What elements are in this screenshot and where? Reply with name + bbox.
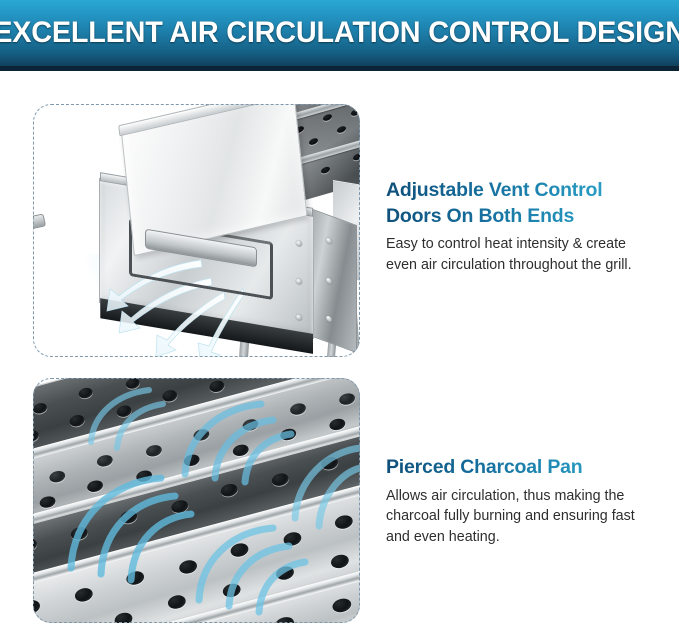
header-banner: EXCELLENT AIR CIRCULATION CONTROL DESIGN <box>0 0 679 71</box>
vent-door-hinge <box>33 213 46 231</box>
firebox-side-panel <box>307 207 357 353</box>
charcoal-pan-illustration <box>33 378 360 623</box>
rivet <box>326 315 332 323</box>
feature-title: Adjustable Vent Control Doors On Both En… <box>386 178 658 229</box>
feature-description: Allows air circulation, thus making the … <box>386 486 658 547</box>
rivet <box>296 240 302 247</box>
rivet <box>326 237 332 245</box>
feature-text-adjustable-vent-control: Adjustable Vent Control Doors On Both En… <box>386 178 658 275</box>
feature-text-pierced-charcoal-pan: Pierced Charcoal Pan Allows air circulat… <box>386 455 658 547</box>
page-title: EXCELLENT AIR CIRCULATION CONTROL DESIGN <box>14 0 666 66</box>
airflow-waves-icon <box>33 378 360 623</box>
feature-description: Easy to control heat intensity & create … <box>386 234 658 275</box>
vent-door-edge <box>118 104 297 136</box>
feature-title: Pierced Charcoal Pan <box>386 455 658 481</box>
rivet <box>326 277 332 285</box>
feature-image-pierced-charcoal-pan <box>33 378 360 623</box>
grill-illustration <box>33 104 360 357</box>
feature-image-adjustable-vent-control <box>33 104 360 357</box>
rivet <box>296 314 302 321</box>
rivet <box>296 278 302 285</box>
